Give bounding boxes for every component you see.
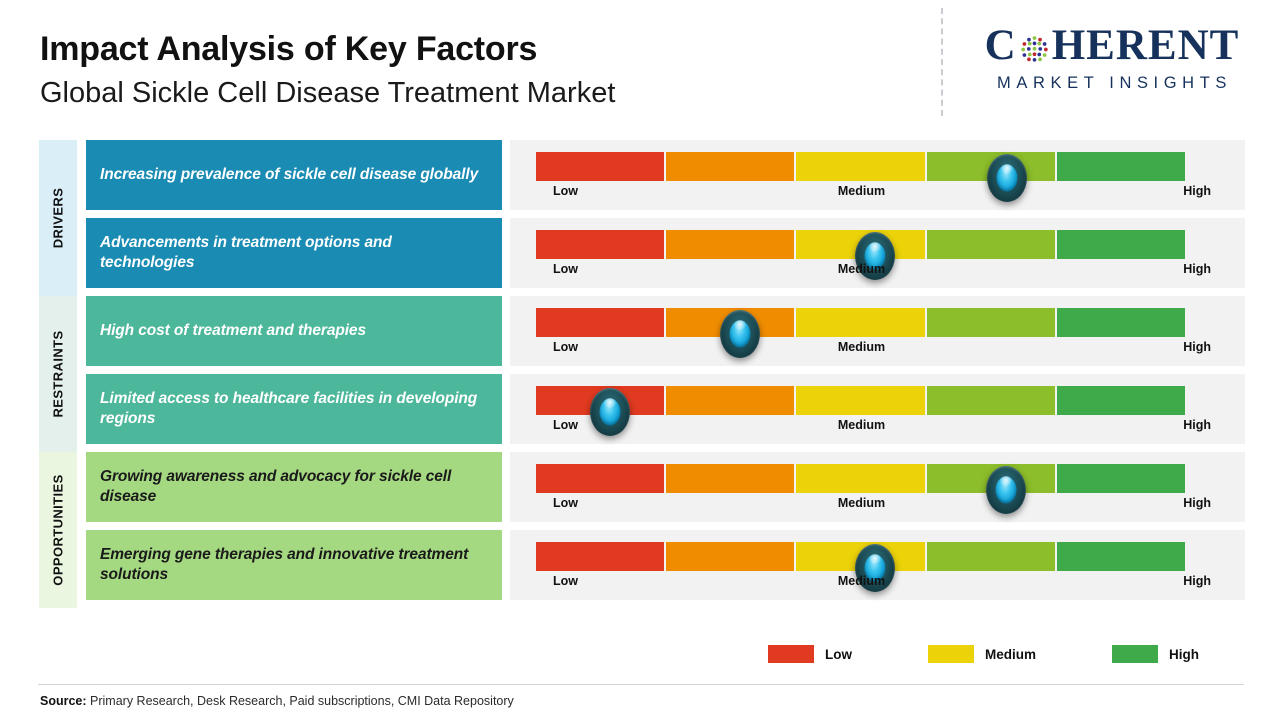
impact-matrix: DRIVERS Increasing prevalence of sickle … — [0, 140, 1280, 608]
gauge-segment-4 — [927, 542, 1055, 571]
gauge-panel: Low Medium High — [510, 218, 1245, 288]
gauge-segment-4 — [927, 230, 1055, 259]
gauge-bar — [536, 230, 1187, 259]
footer-divider — [38, 684, 1244, 685]
scale-label-low: Low — [553, 340, 578, 354]
page-title: Impact Analysis of Key Factors Global Si… — [40, 30, 615, 111]
scale-labels: Low Medium High — [536, 418, 1187, 438]
gauge-panel: Low Medium High — [510, 140, 1245, 210]
factor-box: Growing awareness and advocacy for sickl… — [86, 452, 502, 522]
gauge-panel: Low Medium High — [510, 530, 1245, 600]
title-main: Impact Analysis of Key Factors — [40, 30, 615, 69]
factor-text: Growing awareness and advocacy for sickl… — [100, 467, 488, 507]
gauge-segment-3 — [796, 464, 924, 493]
factor-box: Emerging gene therapies and innovative t… — [86, 530, 502, 600]
scale-label-low: Low — [553, 262, 578, 276]
table-row: Emerging gene therapies and innovative t… — [0, 530, 1280, 608]
gauge-bar — [536, 464, 1187, 493]
gauge-segment-1 — [536, 152, 664, 181]
legend-swatch-low — [768, 645, 814, 663]
scale-label-low: Low — [553, 574, 578, 588]
legend-item-medium: Medium — [928, 645, 1036, 663]
scale-labels: Low Medium High — [536, 496, 1187, 516]
logo-divider — [941, 8, 943, 116]
gauge-segment-1 — [536, 464, 664, 493]
title-subtitle: Global Sickle Cell Disease Treatment Mar… — [40, 75, 615, 111]
legend-item-high: High — [1112, 645, 1199, 663]
scale-label-medium: Medium — [838, 340, 885, 354]
factor-box: Limited access to healthcare facilities … — [86, 374, 502, 444]
factor-text: Emerging gene therapies and innovative t… — [100, 545, 488, 585]
factor-text: Increasing prevalence of sickle cell dis… — [100, 165, 478, 185]
scale-label-high: High — [1183, 340, 1211, 354]
gauge-segment-2 — [666, 386, 794, 415]
dotted-globe-icon — [1018, 31, 1051, 64]
gauge-segment-1 — [536, 308, 664, 337]
logo-tagline: MARKET INSIGHTS — [962, 74, 1262, 93]
gauge-panel: Low Medium High — [510, 296, 1245, 366]
logo-word-right: HERENT — [1052, 24, 1240, 67]
gauge-segment-5 — [1057, 230, 1185, 259]
scale-label-high: High — [1183, 418, 1211, 432]
scale-label-low: Low — [553, 184, 578, 198]
gauge-bar — [536, 308, 1187, 337]
gauge-segment-2 — [666, 542, 794, 571]
scale-label-high: High — [1183, 574, 1211, 588]
legend-swatch-medium — [928, 645, 974, 663]
scale-label-low: Low — [553, 496, 578, 510]
gauge-segment-5 — [1057, 152, 1185, 181]
gauge-bar — [536, 542, 1187, 571]
legend-label-high: High — [1169, 647, 1199, 662]
gauge-segment-3 — [796, 542, 924, 571]
gauge-segment-4 — [927, 464, 1055, 493]
table-row: OPPORTUNITIES Growing awareness and advo… — [0, 452, 1280, 530]
gauge-segment-5 — [1057, 386, 1185, 415]
gauge-segment-5 — [1057, 542, 1185, 571]
logo-word-left: C — [985, 24, 1017, 67]
gauge-segment-4 — [927, 152, 1055, 181]
table-row: Advancements in treatment options and te… — [0, 218, 1280, 296]
gauge-bar — [536, 386, 1187, 415]
gauge-segment-3 — [796, 308, 924, 337]
source-text: Primary Research, Desk Research, Paid su… — [87, 694, 514, 708]
scale-label-high: High — [1183, 262, 1211, 276]
table-row: RESTRAINTS High cost of treatment and th… — [0, 296, 1280, 374]
gauge-segment-1 — [536, 542, 664, 571]
gauge-segment-5 — [1057, 308, 1185, 337]
gauge-panel: Low Medium High — [510, 374, 1245, 444]
scale-label-low: Low — [553, 418, 578, 432]
factor-box: Increasing prevalence of sickle cell dis… — [86, 140, 502, 210]
header: Impact Analysis of Key Factors Global Si… — [0, 0, 1280, 132]
scale-label-medium: Medium — [838, 496, 885, 510]
gauge-segment-4 — [927, 386, 1055, 415]
gauge-segment-3 — [796, 230, 924, 259]
gauge-panel: Low Medium High — [510, 452, 1245, 522]
legend-label-medium: Medium — [985, 647, 1036, 662]
gauge-segment-3 — [796, 152, 924, 181]
scale-labels: Low Medium High — [536, 262, 1187, 282]
scale-label-high: High — [1183, 184, 1211, 198]
gauge-segment-2 — [666, 308, 794, 337]
factor-box: High cost of treatment and therapies — [86, 296, 502, 366]
legend: Low Medium High — [768, 645, 1199, 663]
source-note: Source: Primary Research, Desk Research,… — [40, 694, 514, 708]
scale-labels: Low Medium High — [536, 574, 1187, 594]
gauge-segment-2 — [666, 464, 794, 493]
gauge-segment-4 — [927, 308, 1055, 337]
gauge-segment-5 — [1057, 464, 1185, 493]
factor-box: Advancements in treatment options and te… — [86, 218, 502, 288]
source-label: Source: — [40, 694, 87, 708]
gauge-segment-2 — [666, 152, 794, 181]
scale-label-medium: Medium — [838, 184, 885, 198]
gauge-segment-3 — [796, 386, 924, 415]
legend-label-low: Low — [825, 647, 852, 662]
brand-logo: C — [962, 24, 1262, 93]
scale-label-medium: Medium — [838, 574, 885, 588]
gauge-bar — [536, 152, 1187, 181]
legend-swatch-high — [1112, 645, 1158, 663]
table-row: Limited access to healthcare facilities … — [0, 374, 1280, 452]
factor-text: Limited access to healthcare facilities … — [100, 389, 488, 429]
factor-text: High cost of treatment and therapies — [100, 321, 366, 341]
legend-item-low: Low — [768, 645, 852, 663]
factor-text: Advancements in treatment options and te… — [100, 233, 488, 273]
scale-label-medium: Medium — [838, 262, 885, 276]
table-row: DRIVERS Increasing prevalence of sickle … — [0, 140, 1280, 218]
scale-labels: Low Medium High — [536, 184, 1187, 204]
gauge-segment-1 — [536, 386, 664, 415]
scale-labels: Low Medium High — [536, 340, 1187, 360]
scale-label-high: High — [1183, 496, 1211, 510]
scale-label-medium: Medium — [838, 418, 885, 432]
gauge-segment-1 — [536, 230, 664, 259]
gauge-segment-2 — [666, 230, 794, 259]
